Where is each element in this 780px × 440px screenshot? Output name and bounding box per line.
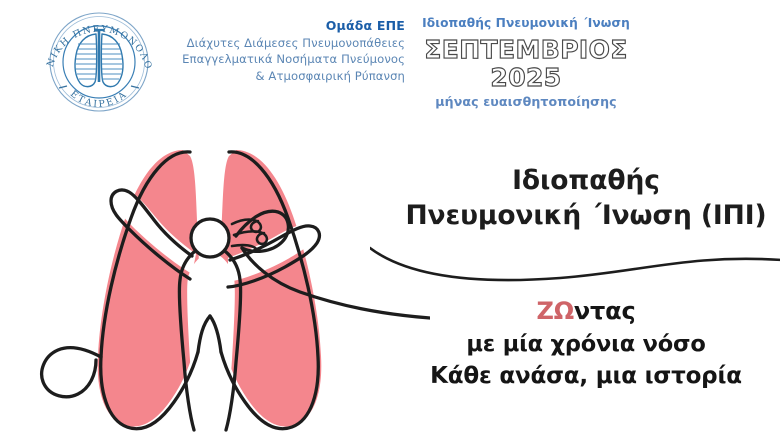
main-title: Ιδιοπαθής Πνευμονική ΄Ινωση (ΙΠΙ) — [400, 163, 772, 233]
awareness-header: Ιδιοπαθής Πνευμονική ΄Ινωση ΣΕΠΤΕΜΒΡΙΟΣ … — [412, 16, 640, 110]
group-subtitle-line-2: Επαγγελματικά Νοσήματα Πνεύμονος — [170, 51, 405, 67]
tagline: ΖΩντας με μία χρόνια νόσο Κάθε ανάσα, μι… — [400, 294, 772, 393]
main-title-line-2: Πνευμονική ΄Ινωση (ΙΠΙ) — [400, 198, 772, 233]
group-title: Ομάδα ΕΠΕ — [170, 18, 405, 34]
group-subtitle: Διάχυτες Διάμεσες Πνευμονοπάθειες Επαγγε… — [170, 35, 405, 84]
left-flourish-loop — [42, 348, 101, 397]
tagline-highlight: ΖΩ — [537, 297, 574, 325]
group-header: Ομάδα ΕΠΕ Διάχυτες Διάμεσες Πνευμονοπάθε… — [170, 18, 405, 84]
tagline-line-2: με μία χρόνια νόσο — [400, 328, 772, 360]
disease-name-label: Ιδιοπαθής Πνευμονική ΄Ινωση — [412, 16, 640, 32]
group-subtitle-line-1: Διάχυτες Διάμεσες Πνευμονοπάθειες — [170, 35, 405, 51]
group-subtitle-line-3: & Ατμοσφαιρική Ρύπανση — [170, 68, 405, 84]
awareness-month-label: μήνας ευαισθητοποίησης — [412, 94, 640, 110]
main-title-line-1: Ιδιοπαθής — [400, 163, 772, 198]
tagline-line-1: ΖΩντας — [400, 294, 772, 328]
tagline-line-3: Κάθε ανάσα, μια ιστορία — [400, 360, 772, 393]
month-year-outline-text: ΣΕΠΤΕΜΒΡΙΟΣ 2025 — [412, 36, 640, 92]
tagline-line-1-rest: ντας — [574, 297, 636, 325]
logo-arc-bottom-text: ΕΤΑΙΡΕΙΑ — [68, 88, 130, 110]
society-logo: ΕΛΛΗΝΙΚΗ ΠΝΕΥΜΟΝΟΛΟΓΙΚΗ ΕΤΑΙΡΕΙΑ — [38, 8, 160, 116]
swoosh-separator-line — [370, 236, 780, 296]
lungs-with-person-illustration — [0, 128, 430, 440]
poster-canvas: ΕΛΛΗΝΙΚΗ ΠΝΕΥΜΟΝΟΛΟΓΙΚΗ ΕΤΑΙΡΕΙΑ Ομάδα Ε… — [0, 0, 780, 440]
